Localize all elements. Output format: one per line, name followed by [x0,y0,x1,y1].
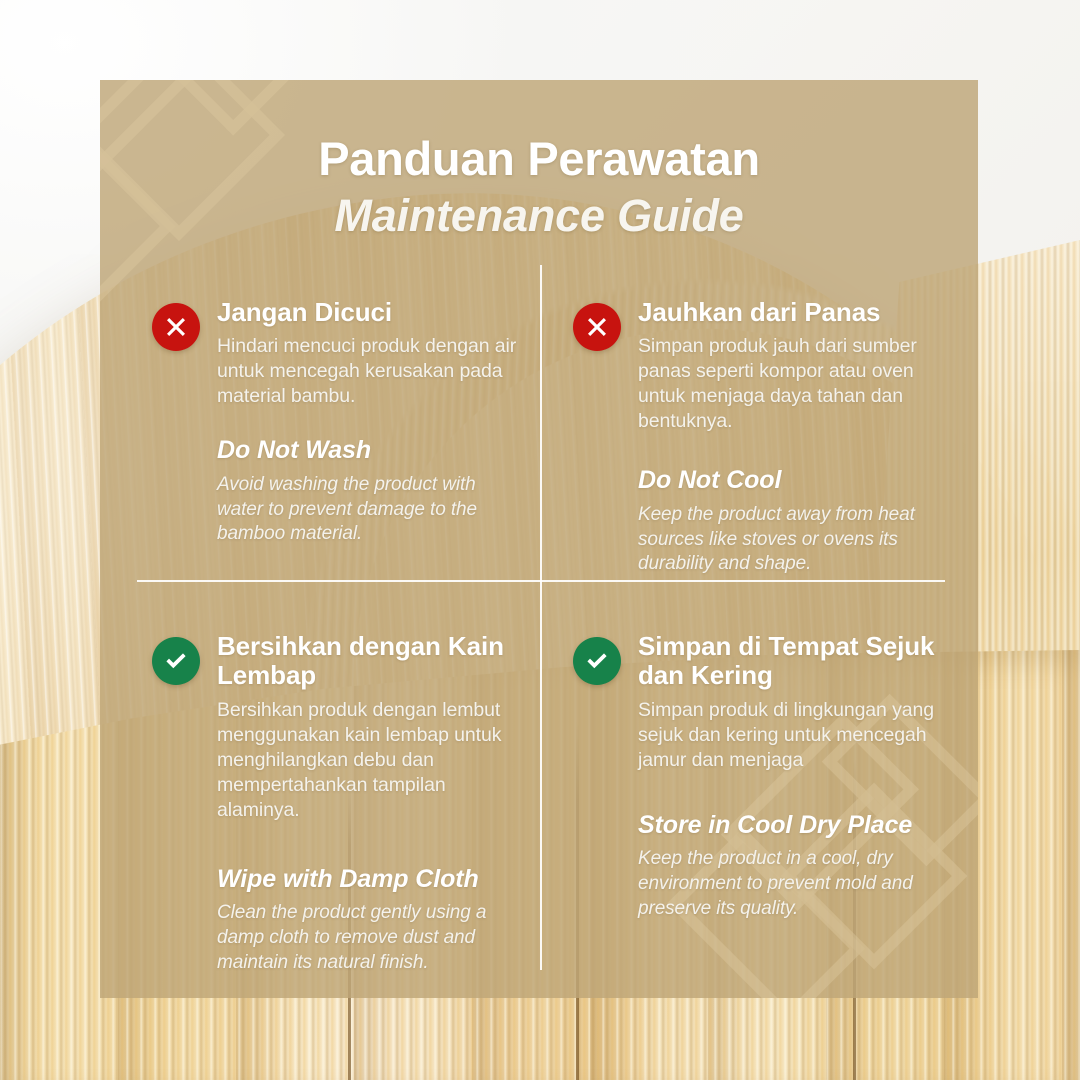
item-heading-english: Wipe with Damp Cloth [217,865,532,894]
check-circle-icon [573,637,621,685]
item-heading-english: Store in Cool Dry Place [638,811,953,840]
item-body-english: Avoid washing the product with water to … [217,473,524,547]
item-body-indonesian: Bersihkan produk dengan lembut menggunak… [217,698,532,823]
item-heading-english: Do Not Cool [638,466,953,495]
item-heading-indonesian: Jauhkan dari Panas [638,298,953,327]
item-body-english: Clean the product gently using a damp cl… [217,901,532,975]
maintenance-guide-card: Panduan Perawatan Maintenance Guide Jang… [100,80,978,998]
cross-circle-icon [573,303,621,351]
item-heading-indonesian: Jangan Dicuci [217,298,524,327]
item-heading-indonesian: Simpan di Tempat Sejuk dan Kering [638,632,953,691]
item-body-english: Keep the product away from heat sources … [638,503,953,577]
guide-item-store-in-cool-dry-place: Simpan di Tempat Sejuk dan Kering Simpan… [573,632,953,921]
item-body-indonesian: Hindari mencuci produk dengan air untuk … [217,334,524,409]
guide-grid: Jangan Dicuci Hindari mencuci produk den… [100,80,978,998]
guide-item-wipe-with-damp-cloth: Bersihkan dengan Kain Lembap Bersihkan p… [152,632,532,975]
item-body-indonesian: Simpan produk jauh dari sumber panas sep… [638,334,953,434]
item-heading-english: Do Not Wash [217,436,524,465]
item-body-indonesian: Simpan produk di lingkungan yang sejuk d… [638,698,953,773]
guide-item-do-not-wash: Jangan Dicuci Hindari mencuci produk den… [152,298,524,547]
guide-item-do-not-cool: Jauhkan dari Panas Simpan produk jauh da… [573,298,953,577]
cross-circle-icon [152,303,200,351]
check-circle-icon [152,637,200,685]
item-heading-indonesian: Bersihkan dengan Kain Lembap [217,632,532,691]
item-body-english: Keep the product in a cool, dry environm… [638,847,953,921]
